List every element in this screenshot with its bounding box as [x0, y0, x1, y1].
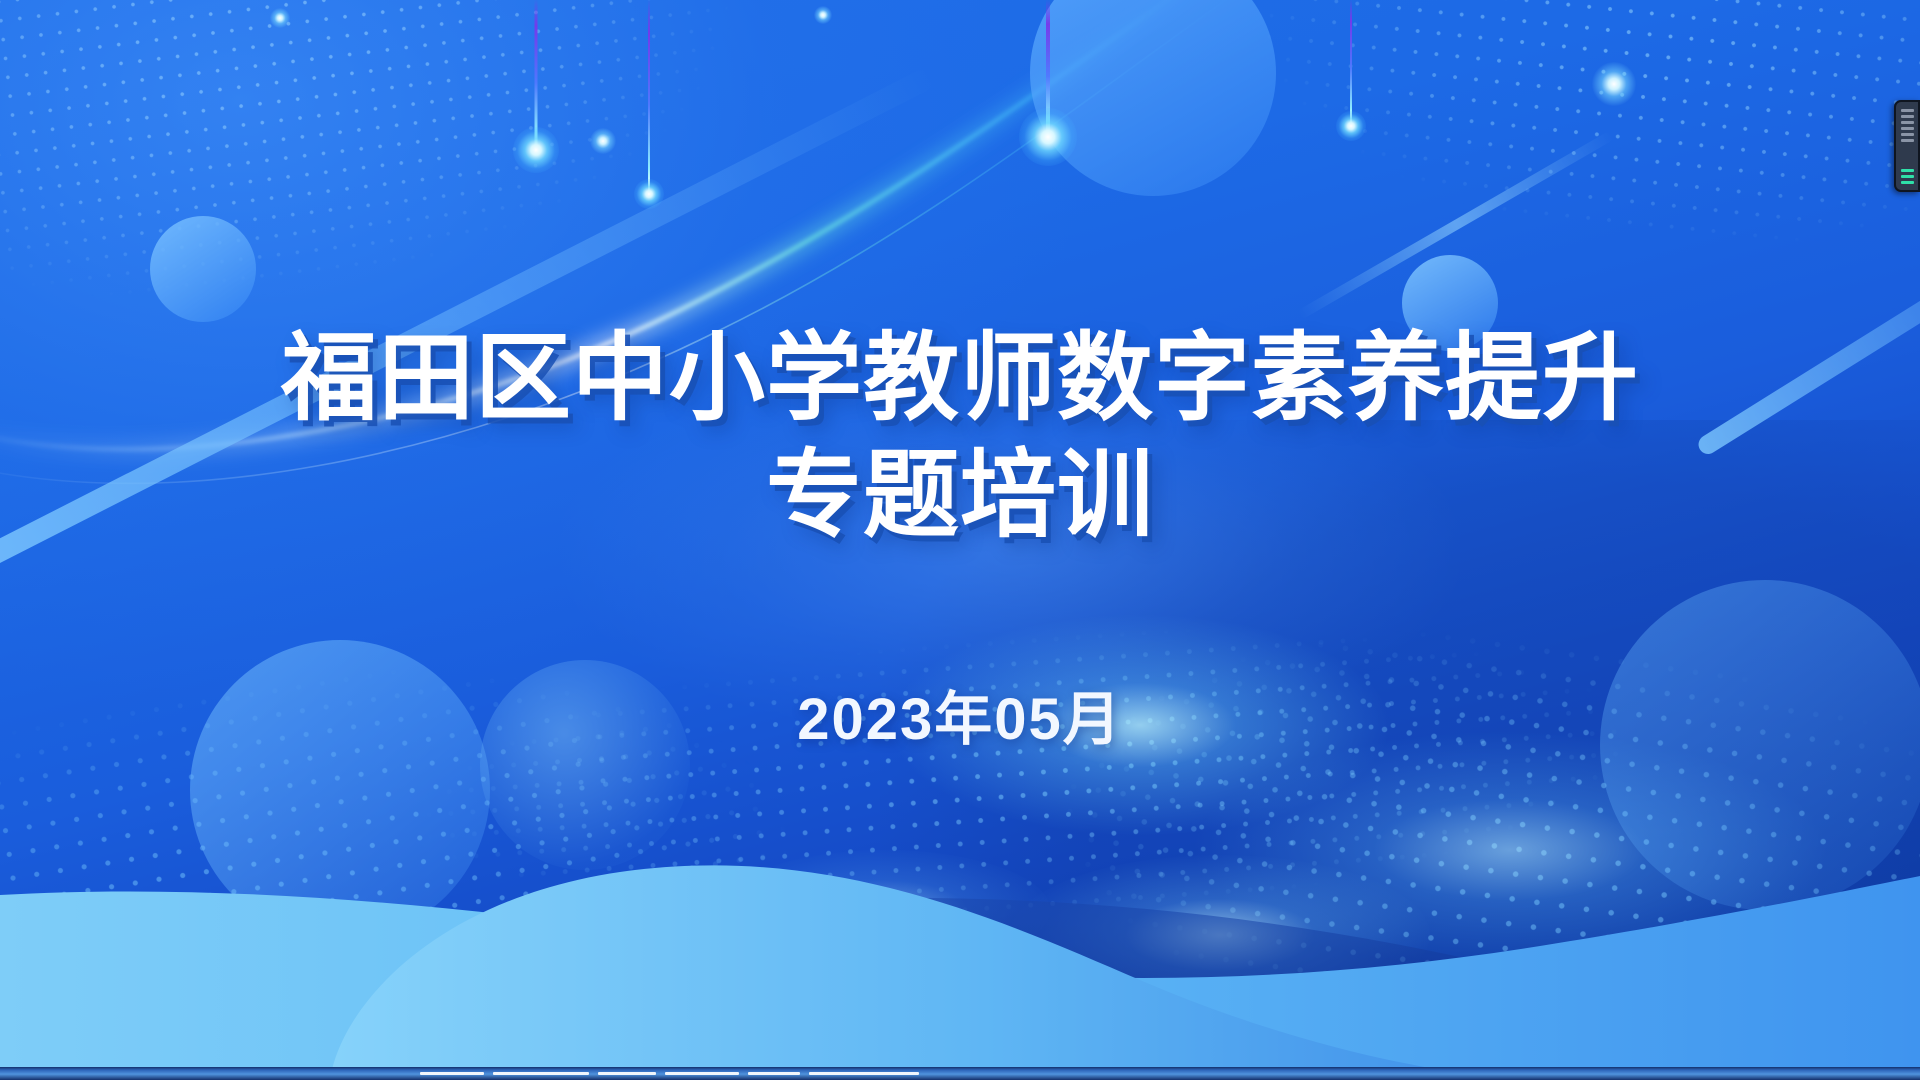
strip-segment — [809, 1072, 919, 1075]
toolbar-accent-bar — [1901, 175, 1914, 178]
floating-toolbar-panel[interactable] — [1894, 100, 1920, 192]
toolbar-bar — [1901, 109, 1914, 112]
toolbar-accent-bar — [1901, 181, 1914, 184]
toolbar-bar — [1901, 115, 1914, 118]
toolbar-bar — [1901, 127, 1914, 130]
slide-title-line-2: 专题培训 — [230, 437, 1690, 554]
bottom-progress-strip[interactable] — [0, 1067, 1920, 1080]
slide-title-line-1: 福田区中小学教师数字素养提升 — [230, 320, 1690, 437]
toolbar-bar — [1901, 133, 1914, 136]
toolbar-bars-group — [1901, 109, 1914, 142]
slide-title-block: 福田区中小学教师数字素养提升 专题培训 — [230, 320, 1690, 554]
presentation-slide: 福田区中小学教师数字素养提升 专题培训 2023年05月 — [0, 0, 1920, 1080]
strip-segment — [598, 1072, 656, 1075]
strip-segment — [420, 1072, 484, 1075]
toolbar-bar — [1901, 139, 1914, 142]
slide-subtitle-date: 2023年05月 — [797, 672, 1123, 756]
strip-segment — [748, 1072, 800, 1075]
toolbar-accent-bar — [1901, 169, 1914, 172]
strip-segment — [493, 1072, 589, 1075]
slide-content: 福田区中小学教师数字素养提升 专题培训 2023年05月 — [0, 0, 1920, 1080]
strip-segment — [665, 1072, 739, 1075]
toolbar-accent-group — [1901, 169, 1914, 184]
toolbar-bar — [1901, 121, 1914, 124]
